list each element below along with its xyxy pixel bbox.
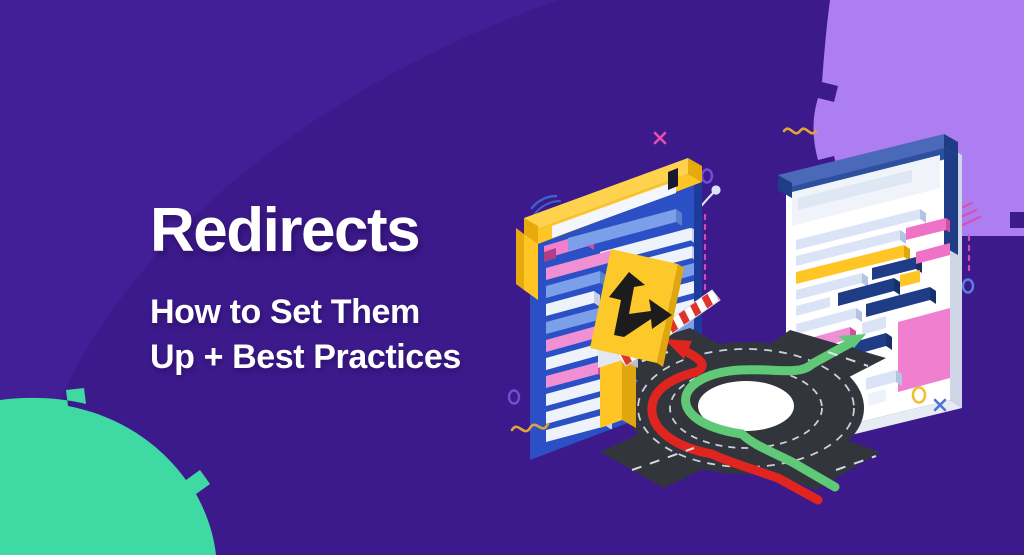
- page-subtitle-line-2: Up + Best Practices: [150, 335, 570, 380]
- decoration-purple-circle-left: [509, 391, 519, 404]
- page-subtitle: How to Set Them Up + Best Practices: [150, 290, 570, 380]
- decoration-pink-x-mark: [655, 133, 665, 143]
- page-title: Redirects: [150, 200, 570, 262]
- redirects-banner: Redirects How to Set Them Up + Best Prac…: [0, 0, 1024, 555]
- right-window-frame-right: [944, 148, 958, 255]
- text-block: Redirects How to Set Them Up + Best Prac…: [150, 200, 570, 380]
- decoration-purple-circle-top: [702, 170, 712, 183]
- page-subtitle-line-1: How to Set Them: [150, 290, 570, 335]
- decoration-blue-circle-right: [963, 280, 973, 293]
- decoration-orange-squiggle-right: [784, 129, 816, 134]
